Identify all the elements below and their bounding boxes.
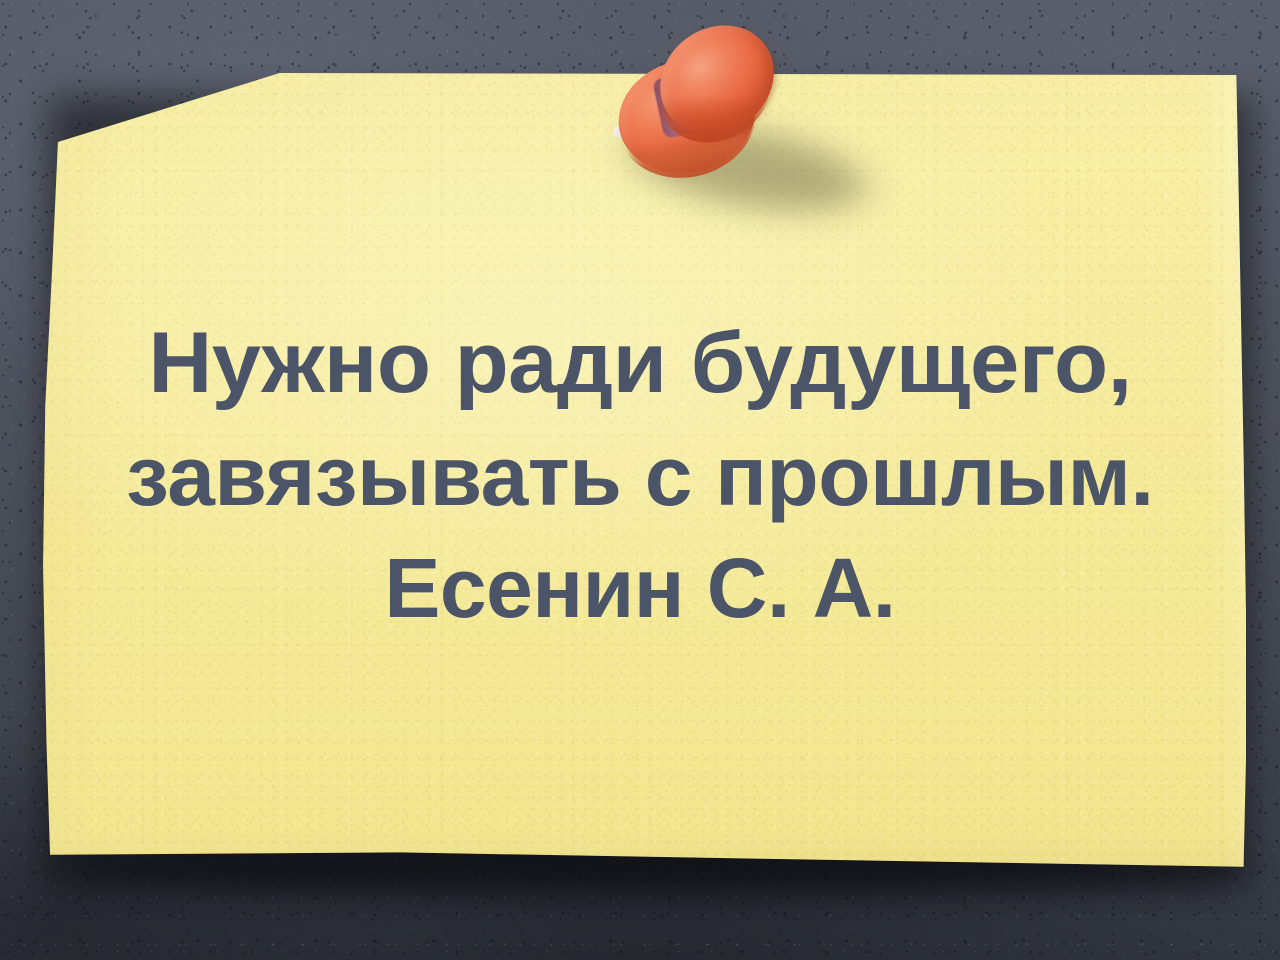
quote-block: Нужно ради будущего, завязывать с прошлы… [60,320,1220,630]
scene-root: Нужно ради будущего, завязывать с прошлы… [0,0,1280,960]
quote-line-1: Нужно ради будущего, [43,320,1238,406]
quote-line-2: завязывать с прошлым. [48,434,1231,518]
pushpin-icon [600,18,780,193]
quote-author-line: Есенин С. А. [60,546,1220,630]
